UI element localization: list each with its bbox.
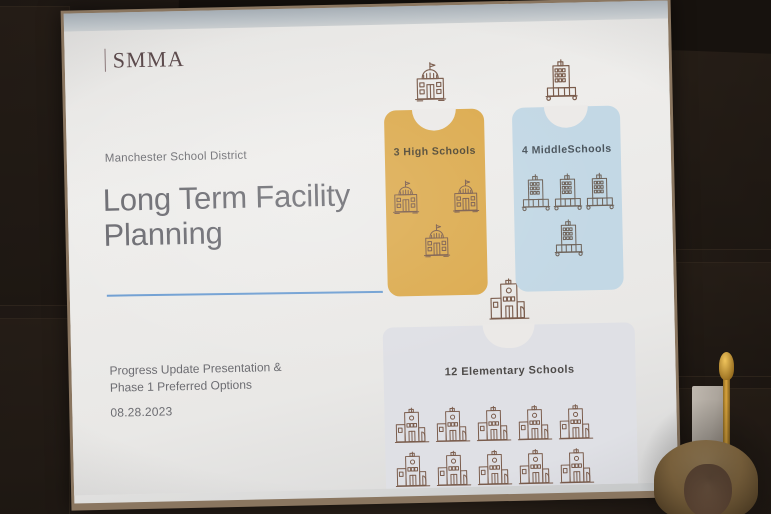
icon-grid-high-schools xyxy=(389,179,483,259)
school-building-tower-icon xyxy=(583,172,616,211)
seated-attendee xyxy=(654,440,766,514)
group-card-middle-schools[interactable]: 4 MiddleSchools xyxy=(512,106,624,292)
school-building-wing-icon xyxy=(393,407,433,446)
school-building-wing-icon xyxy=(476,449,516,488)
school-building-dome-icon xyxy=(420,223,453,258)
card-notch xyxy=(544,105,588,128)
group-card-high-schools[interactable]: 3 High Schools xyxy=(384,109,488,297)
school-building-dome-icon xyxy=(411,61,450,102)
attendee-face xyxy=(684,464,732,514)
group-label-elementary-schools: 12 Elementary Schools xyxy=(383,362,635,379)
projection-screen-frame: SMMA Manchester School District Long Ter… xyxy=(61,0,682,511)
school-building-dome-icon xyxy=(449,179,482,214)
projection-screen: SMMA Manchester School District Long Ter… xyxy=(64,0,679,503)
photo-of-projected-slide: SMMA Manchester School District Long Ter… xyxy=(0,0,771,514)
district-name: Manchester School District xyxy=(105,150,247,165)
school-building-wing-icon xyxy=(395,495,435,496)
card-notch xyxy=(412,108,456,131)
group-label-middle-schools: 4 MiddleSchools xyxy=(513,143,621,157)
wall-panel-left-lower xyxy=(0,318,70,514)
presentation-date: 08.28.2023 xyxy=(110,404,172,419)
school-building-wing-icon xyxy=(434,406,474,445)
presentation-slide: SMMA Manchester School District Long Ter… xyxy=(64,18,678,495)
school-building-wing-icon xyxy=(516,404,556,443)
group-card-elementary-schools[interactable]: 12 Elementary Schools xyxy=(383,322,639,495)
page-title: Long Term Facility Planning xyxy=(102,176,408,253)
school-building-tower-icon xyxy=(552,218,585,257)
flag-finial xyxy=(719,352,734,380)
school-building-tower-icon xyxy=(551,172,584,211)
school-building-tower-icon xyxy=(543,58,580,101)
school-building-tower-icon xyxy=(519,173,552,212)
school-building-dome-icon xyxy=(389,180,422,215)
icon-grid-middle-schools xyxy=(519,172,617,258)
school-building-wing-icon xyxy=(517,448,557,487)
school-building-wing-icon xyxy=(475,405,515,444)
school-inventory-diagram: 3 High Schools xyxy=(376,39,676,496)
presentation-subtitle: Progress Update Presentation & Phase 1 P… xyxy=(109,356,400,396)
icon-grid-elementary-schools xyxy=(393,402,634,495)
school-building-wing-icon xyxy=(394,451,434,490)
title-divider xyxy=(107,291,383,297)
group-label-high-schools: 3 High Schools xyxy=(385,144,485,158)
school-building-wing-icon xyxy=(435,450,475,489)
wall-panel-left-upper xyxy=(0,6,70,306)
card-notch xyxy=(483,323,536,348)
school-building-wing-icon xyxy=(557,403,597,442)
school-building-wing-icon xyxy=(558,447,598,486)
smma-logo: SMMA xyxy=(104,47,185,72)
school-building-wing-icon xyxy=(436,494,476,496)
